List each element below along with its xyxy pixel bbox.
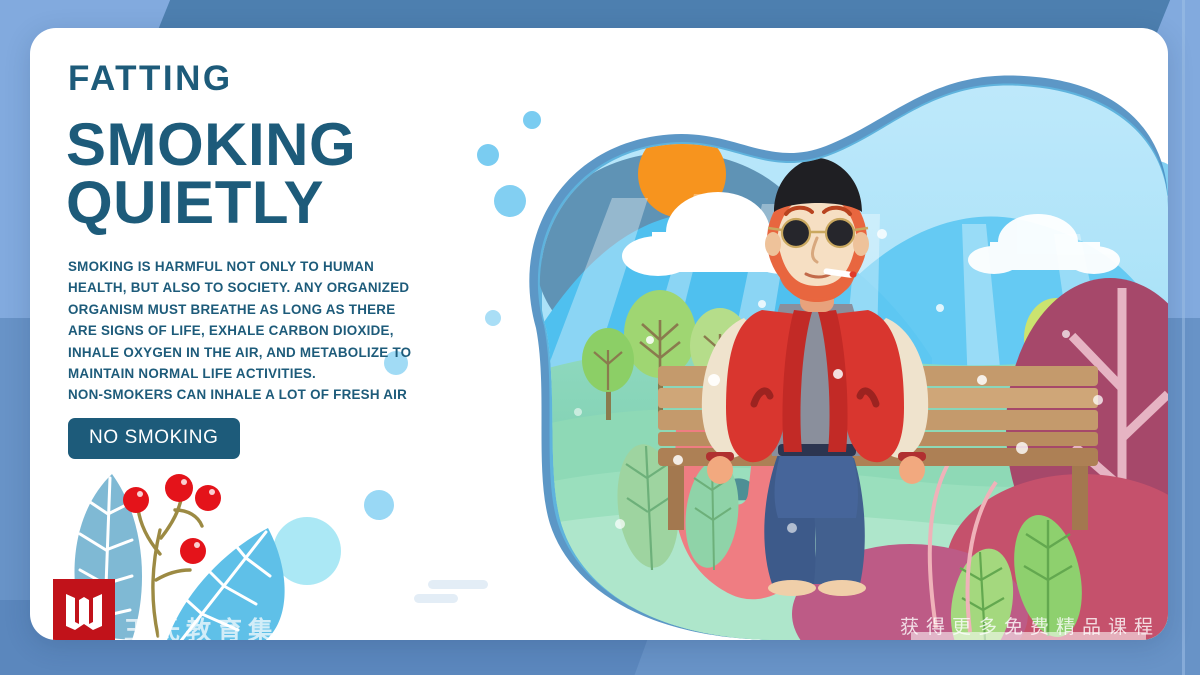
- poster-card: FATTING SMOKING QUIETLY SMOKING IS HARMF…: [30, 28, 1168, 640]
- hips: [775, 448, 858, 518]
- logo-w-icon: [62, 588, 106, 632]
- body-line: ARE SIGNS OF LIFE, EXHALE CARBON DIOXIDE…: [68, 320, 448, 341]
- left-shoe: [768, 580, 816, 596]
- no-smoking-button[interactable]: NO SMOKING: [68, 418, 240, 459]
- illustration-man-smoking-on-bench: [462, 28, 1168, 640]
- berry-icon: [195, 485, 221, 511]
- left-ear: [765, 232, 781, 256]
- decor-dot-icon: [364, 490, 394, 520]
- brand-logo[interactable]: [53, 579, 115, 640]
- promo-app-name: 绘学霸: [981, 637, 1056, 640]
- berry-icon: [123, 487, 149, 513]
- right-shoe: [818, 580, 866, 596]
- right-ear: [853, 232, 869, 256]
- body-line: ORGANISM MUST BREATHE AS LONG AS THERE: [68, 299, 448, 320]
- berry-icon: [180, 538, 206, 564]
- body-line: MAINTAIN NORMAL LIFE ACTIVITIES.: [68, 363, 448, 384]
- vest-button: [833, 369, 843, 379]
- body-line: NON-SMOKERS CAN INHALE A LOT OF FRESH AI…: [68, 384, 448, 405]
- background-right-rule: [1182, 0, 1185, 675]
- headline-line-2: QUIETLY: [66, 174, 496, 232]
- body-line: SMOKING IS HARMFUL NOT ONLY TO HUMAN: [68, 256, 448, 277]
- page-title: SMOKING QUIETLY: [66, 116, 496, 232]
- body-line: INHALE OXYGEN IN THE AIR, AND METABOLIZE…: [68, 342, 448, 363]
- body-line: HEALTH, BUT ALSO TO SOCIETY. ANY ORGANIZ…: [68, 277, 448, 298]
- body-paragraph: SMOKING IS HARMFUL NOT ONLY TO HUMAN HEA…: [68, 256, 448, 406]
- eyebrow-title: FATTING: [68, 59, 233, 99]
- right-hand: [899, 456, 925, 484]
- left-hand: [707, 456, 733, 484]
- berry-icon: [165, 474, 193, 502]
- headline-line-1: SMOKING: [66, 116, 496, 174]
